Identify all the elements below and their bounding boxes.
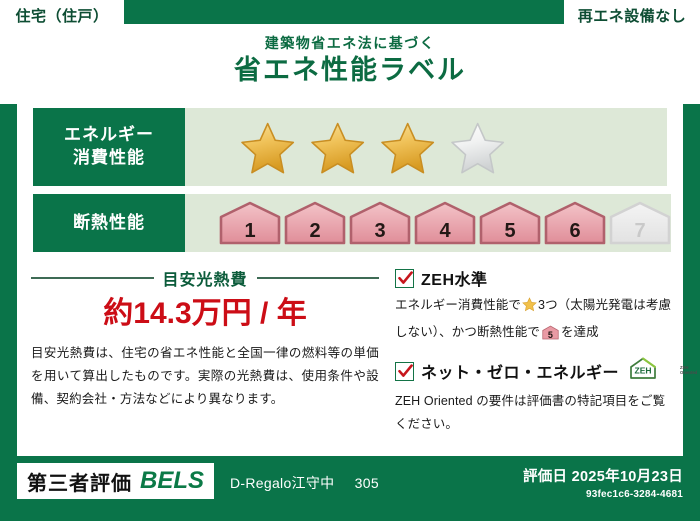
zeh-logo-sub-line2: Oriented [680,370,697,375]
insulation-grade-number: 3 [349,221,411,241]
zeh-standard-checkbox[interactable] [395,269,414,288]
utility-cost-block: 目安光熱費 約14.3万円 / 年 目安光熱費は、住宅の省エネ性能と全国一律の燃… [31,266,379,411]
energy-performance-label-line2: 消費性能 [73,147,145,170]
insulation-grade-filled: 2 [284,201,346,245]
insulation-grade-filled: 4 [414,201,476,245]
zeh-item-net-zero: ネット・ゼロ・エネルギー ZEH ZEH Oriented [395,357,673,438]
insulation-performance-label-text: 断熱性能 [73,212,145,235]
bels-jp-label: 第三者評価 [27,467,132,496]
evaluation-date: 評価日 2025年10月23日 [523,465,683,486]
unit-number: 305 [355,475,379,491]
insulation-grade-track: 1234567 [185,194,671,252]
utility-cost-note: 目安光熱費は、住宅の省エネ性能と全国一律の燃料等の単価を用いて算出したものです。… [31,342,379,411]
insulation-performance-label: 断熱性能 [33,194,185,252]
insulation-grade-filled: 6 [544,201,606,245]
zeh-standard-title: ZEH水準 [421,266,488,290]
check-icon [397,363,414,380]
inline-star-icon [522,297,537,321]
building-info: D-Regalo江守中 305 [230,473,379,493]
building-name: D-Regalo江守中 [230,475,334,491]
energy-star-track [185,108,667,186]
insulation-grade-number: 2 [284,221,346,241]
insulation-grade-filled: 5 [479,201,541,245]
energy-performance-label: エネルギー 消費性能 [33,108,185,186]
zeh-net-zero-title-row: ネット・ゼロ・エネルギー ZEH ZEH Oriented [395,357,673,386]
inline-grade-badge: 5 [542,325,559,340]
label-title-sub: 建築物省エネ法に基づく [0,36,700,50]
tag-housing-type: 住宅（住戸） [0,0,124,31]
tag-renewable-equipment: 再エネ設備なし [564,0,700,31]
zeh-net-zero-body: ZEH Oriented の要件は評価書の特記項目をご覧ください。 [395,390,673,438]
energy-performance-row: エネルギー 消費性能 [33,108,667,186]
inline-grade-badge-number: 5 [542,331,559,340]
star-empty-icon [449,120,505,174]
utility-cost-title: 目安光熱費 [163,266,248,290]
tag-renewable-equipment-label: 再エネ設備なし [578,5,687,26]
zeh-net-zero-checkbox[interactable] [395,362,414,381]
svg-text:ZEH: ZEH [635,365,652,375]
energy-label-root: 住宅（住戸） 再エネ設備なし 建築物省エネ法に基づく 省エネ性能ラベル エネルギ… [0,0,700,521]
rule-right [257,277,380,279]
insulation-grade-number: 6 [544,221,606,241]
footer: 第三者評価 BELS D-Regalo江守中 305 評価日 2025年10月2… [0,456,700,521]
zeh-standard-body-part1: エネルギー消費性能で [395,298,521,312]
zeh-item-standard: ZEH水準 エネルギー消費性能で3つ（太陽光発電は考慮しない）、かつ断熱性能で5… [395,266,673,345]
insulation-performance-row: 断熱性能 1234567 [33,194,667,252]
utility-cost-header: 目安光熱費 [31,266,379,290]
insulation-grade-filled: 1 [219,201,281,245]
bels-en-label: BELS [140,467,204,495]
check-icon [397,270,414,287]
zeh-oriented-logo-icon: ZEH [628,357,672,386]
insulation-grade-number: 5 [479,221,541,241]
insulation-grade-number: 4 [414,221,476,241]
bels-badge: 第三者評価 BELS [17,463,214,499]
tag-housing-type-label: 住宅（住戸） [15,5,108,26]
utility-cost-amount: 約14.3万円 / 年 [31,297,379,330]
insulation-grade-number: 1 [219,221,281,241]
label-title: 建築物省エネ法に基づく 省エネ性能ラベル [0,36,700,84]
insulation-grade-empty: 7 [609,201,671,245]
zeh-column: ZEH水準 エネルギー消費性能で3つ（太陽光発電は考慮しない）、かつ断熱性能で5… [395,266,673,449]
star-filled-icon [239,120,295,174]
main-panel: エネルギー 消費性能 断熱性能 1234567 目安光熱費 約14.3万円 / … [17,98,683,456]
star-filled-icon [309,120,365,174]
star-filled-icon [379,120,435,174]
zeh-standard-body-part3: を達成 [561,325,599,339]
lower-content: 目安光熱費 約14.3万円 / 年 目安光熱費は、住宅の省エネ性能と全国一律の燃… [17,266,683,454]
zeh-standard-title-row: ZEH水準 [395,266,673,290]
insulation-grade-filled: 3 [349,201,411,245]
zeh-oriented-logo-caption: ZEH Oriented [680,366,697,376]
evaluation-id: 93fec1c6-3284-4681 [586,489,683,500]
zeh-standard-body: エネルギー消費性能で3つ（太陽光発電は考慮しない）、かつ断熱性能で5を達成 [395,294,673,345]
rule-left [31,277,154,279]
zeh-net-zero-title: ネット・ゼロ・エネルギー [421,359,619,383]
insulation-grade-number: 7 [609,221,671,241]
label-title-main: 省エネ性能ラベル [0,57,700,84]
energy-performance-label-line1: エネルギー [64,124,154,147]
